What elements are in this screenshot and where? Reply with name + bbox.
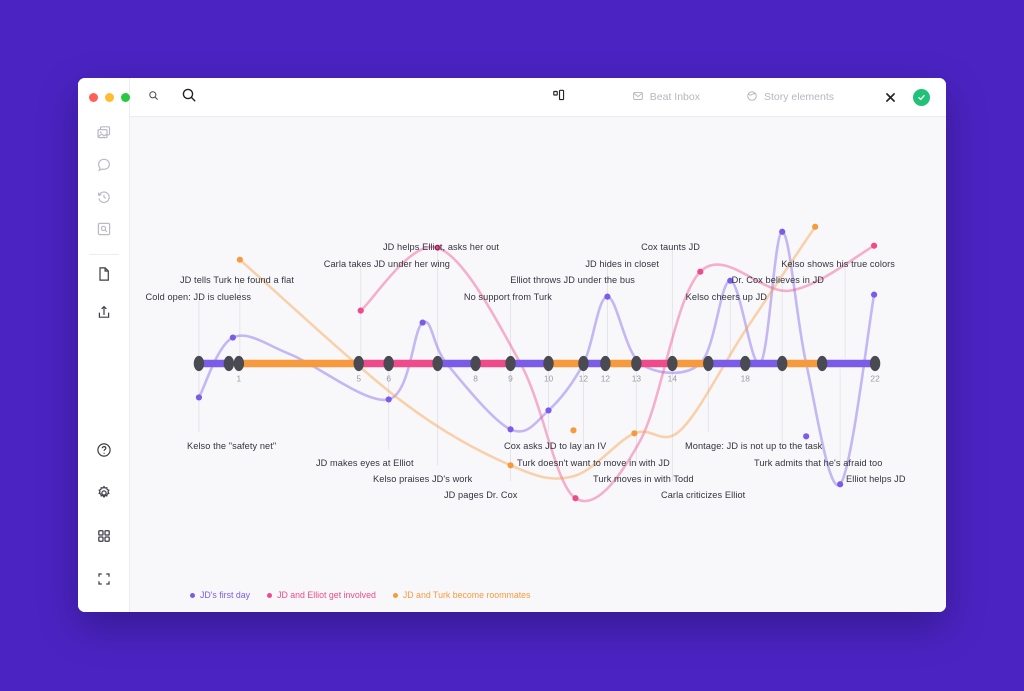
story-elements-icon	[746, 90, 758, 105]
close-panel-button[interactable]	[878, 89, 903, 106]
legend-item[interactable]: JD's first day	[190, 590, 250, 600]
beat-tick-label: 18	[741, 373, 751, 383]
sidebar-item-history[interactable]	[78, 184, 129, 214]
beat-annotation[interactable]: Cox taunts JD	[641, 242, 700, 252]
data-point	[812, 224, 818, 230]
beat-annotation[interactable]: Cold open: JD is clueless	[146, 292, 251, 302]
beat-marker	[870, 356, 880, 371]
data-point	[230, 334, 236, 340]
beat-annotation[interactable]: Kelso shows his true colors	[781, 259, 895, 269]
chart-legend: JD's first dayJD and Elliot get involved…	[190, 590, 530, 600]
beat-inbox-button[interactable]: Beat Inbox	[626, 87, 706, 108]
story-elements-label: Story elements	[764, 91, 834, 103]
sidebar-item-fullscreen[interactable]	[78, 566, 129, 596]
gear-icon	[96, 485, 112, 506]
sidebar-item-cards[interactable]	[78, 120, 129, 150]
beat-annotation[interactable]: JD pages Dr. Cox	[444, 490, 517, 500]
beat-marker	[224, 356, 234, 371]
grid-apps-icon	[96, 528, 112, 549]
sidebar-item-export[interactable]	[78, 299, 129, 329]
search-button[interactable]	[175, 85, 203, 110]
data-point	[420, 319, 426, 325]
fullscreen-icon	[96, 571, 112, 592]
beat-tick-label: 14	[668, 373, 678, 383]
search-small-button[interactable]	[142, 86, 165, 108]
beat-marker	[354, 356, 364, 371]
beat-annotation[interactable]: Elliot throws JD under the bus	[510, 275, 635, 285]
data-point	[837, 481, 843, 487]
zoom-window-button[interactable]	[121, 93, 130, 102]
minimize-window-button[interactable]	[105, 93, 114, 102]
beat-tick-label: 8	[473, 373, 478, 383]
beat-marker	[505, 356, 515, 371]
data-point	[386, 396, 392, 402]
beat-annotation[interactable]: Carla takes JD under her wing	[324, 259, 450, 269]
beat-marker	[667, 356, 677, 371]
upload-icon	[96, 304, 112, 325]
data-point	[507, 462, 513, 468]
data-point	[572, 495, 578, 501]
beat-marker	[817, 356, 827, 371]
beat-annotation[interactable]: Turk doesn't want to move in with JD	[517, 458, 670, 468]
sidebar-item-help[interactable]	[78, 437, 129, 467]
beat-tick-label: 22	[870, 373, 880, 383]
beat-annotation[interactable]: Kelso cheers up JD	[686, 292, 767, 302]
data-point	[697, 269, 703, 275]
beat-tick-label: 13	[632, 373, 642, 383]
history-icon	[96, 189, 112, 210]
beat-marker	[578, 356, 588, 371]
timeline-chart: 1568910121213141822	[130, 117, 946, 612]
beat-tick-label: 6	[386, 373, 391, 383]
sidebar-item-settings[interactable]	[78, 480, 129, 510]
beat-marker	[600, 356, 610, 371]
beat-marker	[432, 356, 442, 371]
data-point	[358, 308, 364, 314]
beat-marker	[703, 356, 713, 371]
sidebar-item-find[interactable]	[78, 216, 129, 246]
legend-label: JD and Turk become roommates	[403, 590, 531, 600]
legend-label: JD and Elliot get involved	[277, 590, 376, 600]
legend-color-dot	[393, 593, 398, 598]
story-elements-button[interactable]: Story elements	[740, 87, 840, 108]
beat-inbox-label: Beat Inbox	[650, 91, 700, 103]
story-timeline-canvas[interactable]: 1568910121213141822 Cold open: JD is clu…	[130, 117, 946, 612]
beat-annotation[interactable]: Cox asks JD to lay an IV	[504, 441, 606, 451]
data-point	[604, 294, 610, 300]
data-point	[631, 430, 637, 436]
beat-annotation[interactable]: JD hides in closet	[585, 259, 659, 269]
data-point	[779, 229, 785, 235]
legend-item[interactable]: JD and Turk become roommates	[393, 590, 531, 600]
search-box-icon	[96, 221, 112, 242]
search-icon	[181, 87, 197, 108]
sidebar-item-document[interactable]	[78, 261, 129, 291]
beat-tick-label: 12	[579, 373, 589, 383]
beat-marker	[383, 356, 393, 371]
beat-annotation[interactable]: Montage: JD is not up to the task	[685, 441, 822, 451]
document-icon	[96, 266, 112, 287]
left-sidebar	[78, 78, 130, 612]
main-area: Beat Inbox Story elements	[130, 78, 946, 612]
beat-annotation[interactable]: No support from Turk	[464, 292, 552, 302]
inbox-icon	[632, 90, 644, 105]
cards-icon	[96, 125, 112, 146]
help-icon	[96, 442, 112, 463]
sidebar-divider	[89, 254, 119, 255]
search-small-icon	[148, 88, 159, 106]
toolbar: Beat Inbox Story elements	[130, 78, 946, 117]
beat-marker	[777, 356, 787, 371]
data-point	[570, 427, 576, 433]
beat-annotation[interactable]: Carla criticizes Elliot	[661, 490, 745, 500]
confirm-button[interactable]	[913, 89, 930, 106]
close-window-button[interactable]	[89, 93, 98, 102]
beat-marker	[194, 356, 204, 371]
beat-annotation[interactable]: Kelso praises JD's work	[373, 474, 472, 484]
split-view-button[interactable]	[546, 86, 572, 109]
beat-tick-label: 5	[356, 373, 361, 383]
beat-annotation[interactable]: JD tells Turk he found a flat	[180, 275, 294, 285]
data-point	[803, 433, 809, 439]
beat-annotation[interactable]: Turk admits that he's afraid too	[754, 458, 882, 468]
data-point	[871, 292, 877, 298]
beat-marker	[631, 356, 641, 371]
data-point	[871, 243, 877, 249]
data-point	[545, 407, 551, 413]
legend-item[interactable]: JD and Elliot get involved	[267, 590, 376, 600]
sidebar-item-comments[interactable]	[78, 152, 129, 182]
data-point	[507, 426, 513, 432]
beat-marker	[543, 356, 553, 371]
comment-icon	[96, 157, 112, 178]
app-window: Beat Inbox Story elements	[78, 78, 946, 612]
beat-marker	[740, 356, 750, 371]
beat-tick-label: 1	[237, 373, 242, 383]
beat-tick-label: 12	[601, 373, 611, 383]
data-point	[237, 257, 243, 263]
beat-annotation[interactable]: Dr. Cox believes in JD	[732, 275, 824, 285]
beat-tick-label: 9	[508, 373, 513, 383]
legend-label: JD's first day	[200, 590, 250, 600]
data-point	[196, 394, 202, 400]
beat-annotation[interactable]: JD makes eyes at Elliot	[316, 458, 414, 468]
beat-annotation[interactable]: Elliot helps JD	[846, 474, 906, 484]
beat-annotation[interactable]: JD helps Elliot, asks her out	[383, 242, 499, 252]
window-traffic-lights	[87, 78, 130, 116]
beat-marker	[234, 356, 244, 371]
split-view-icon	[552, 88, 566, 107]
beat-marker	[470, 356, 480, 371]
sidebar-item-apps[interactable]	[78, 523, 129, 553]
beat-tick-label: 10	[544, 373, 554, 383]
legend-color-dot	[267, 593, 272, 598]
beat-annotation[interactable]: Turk moves in with Todd	[593, 474, 694, 484]
legend-color-dot	[190, 593, 195, 598]
beat-annotation[interactable]: Kelso the "safety net"	[187, 441, 276, 451]
